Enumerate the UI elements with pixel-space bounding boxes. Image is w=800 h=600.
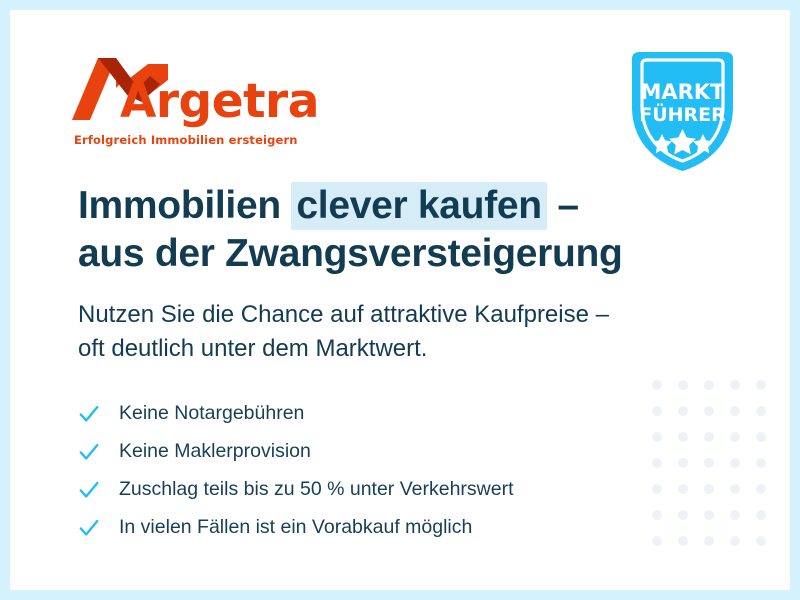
benefit-list: Keine Notargebühren Keine Maklerprovisio…: [78, 395, 514, 547]
dot: [678, 510, 688, 520]
dot: [678, 484, 688, 494]
dot: [756, 380, 766, 390]
page-title: Immobilien clever kaufen – aus der Zwang…: [78, 182, 623, 277]
headline-line-2: aus der Zwangsversteigerung: [78, 232, 623, 275]
subtitle-line-2: oft deutlich unter dem Marktwert.: [78, 335, 427, 362]
dot: [756, 510, 766, 520]
list-item-label: Keine Maklerprovision: [119, 442, 311, 462]
dot: [652, 458, 662, 468]
dot: [704, 484, 714, 494]
headline-suffix: –: [547, 184, 579, 227]
list-item-label: Zuschlag teils bis zu 50 % unter Verkehr…: [119, 480, 514, 500]
dot: [756, 484, 766, 494]
page-subtitle: Nutzen Sie die Chance auf attraktive Kau…: [78, 298, 609, 366]
headline-prefix: Immobilien: [78, 184, 291, 227]
headline-line-1: Immobilien clever kaufen –: [78, 182, 579, 230]
dot: [704, 432, 714, 442]
dot: [652, 432, 662, 442]
dot: [704, 406, 714, 416]
dot: [730, 380, 740, 390]
dot: [652, 510, 662, 520]
dot: [756, 432, 766, 442]
dot: [704, 458, 714, 468]
check-icon: [78, 403, 100, 425]
list-item: In vielen Fällen ist ein Vorabkauf mögli…: [78, 509, 514, 546]
dot: [678, 536, 688, 546]
dot: [678, 380, 688, 390]
dot: [730, 484, 740, 494]
subtitle-line-1: Nutzen Sie die Chance auf attraktive Kau…: [78, 301, 609, 328]
dot: [704, 380, 714, 390]
list-item: Zuschlag teils bis zu 50 % unter Verkehr…: [78, 471, 514, 508]
argetra-wordmark: Argetra: [120, 78, 319, 125]
list-item: Keine Maklerprovision: [78, 433, 514, 470]
content-card: Argetra Erfolgreich Immobilien ersteiger…: [10, 10, 790, 590]
list-item: Keine Notargebühren: [78, 395, 514, 432]
dot: [652, 484, 662, 494]
dot: [652, 380, 662, 390]
poster-canvas: Argetra Erfolgreich Immobilien ersteiger…: [0, 0, 800, 600]
list-item-label: Keine Notargebühren: [119, 404, 304, 424]
argetra-logo[interactable]: Argetra Erfolgreich Immobilien ersteiger…: [72, 58, 312, 154]
check-icon: [78, 441, 100, 463]
dot: [756, 536, 766, 546]
badge-line-1: MARKT: [641, 80, 726, 104]
dot: [678, 432, 688, 442]
dot: [730, 510, 740, 520]
argetra-tagline: Erfolgreich Immobilien ersteigern: [74, 133, 298, 147]
dot-grid-decoration: [652, 380, 782, 562]
dot: [730, 536, 740, 546]
dot: [652, 536, 662, 546]
check-icon: [78, 517, 100, 539]
dot: [756, 458, 766, 468]
dot: [730, 432, 740, 442]
markt-fuehrer-badge: MARKT FÜHRER: [620, 45, 745, 175]
badge-line-2: FÜHRER: [639, 102, 726, 126]
dot: [678, 458, 688, 468]
dot: [652, 406, 662, 416]
dot: [704, 510, 714, 520]
dot: [756, 406, 766, 416]
dot: [730, 406, 740, 416]
dot: [704, 536, 714, 546]
check-icon: [78, 479, 100, 501]
dot: [730, 458, 740, 468]
dot: [678, 406, 688, 416]
list-item-label: In vielen Fällen ist ein Vorabkauf mögli…: [119, 518, 472, 538]
headline-highlight: clever kaufen: [291, 182, 546, 230]
